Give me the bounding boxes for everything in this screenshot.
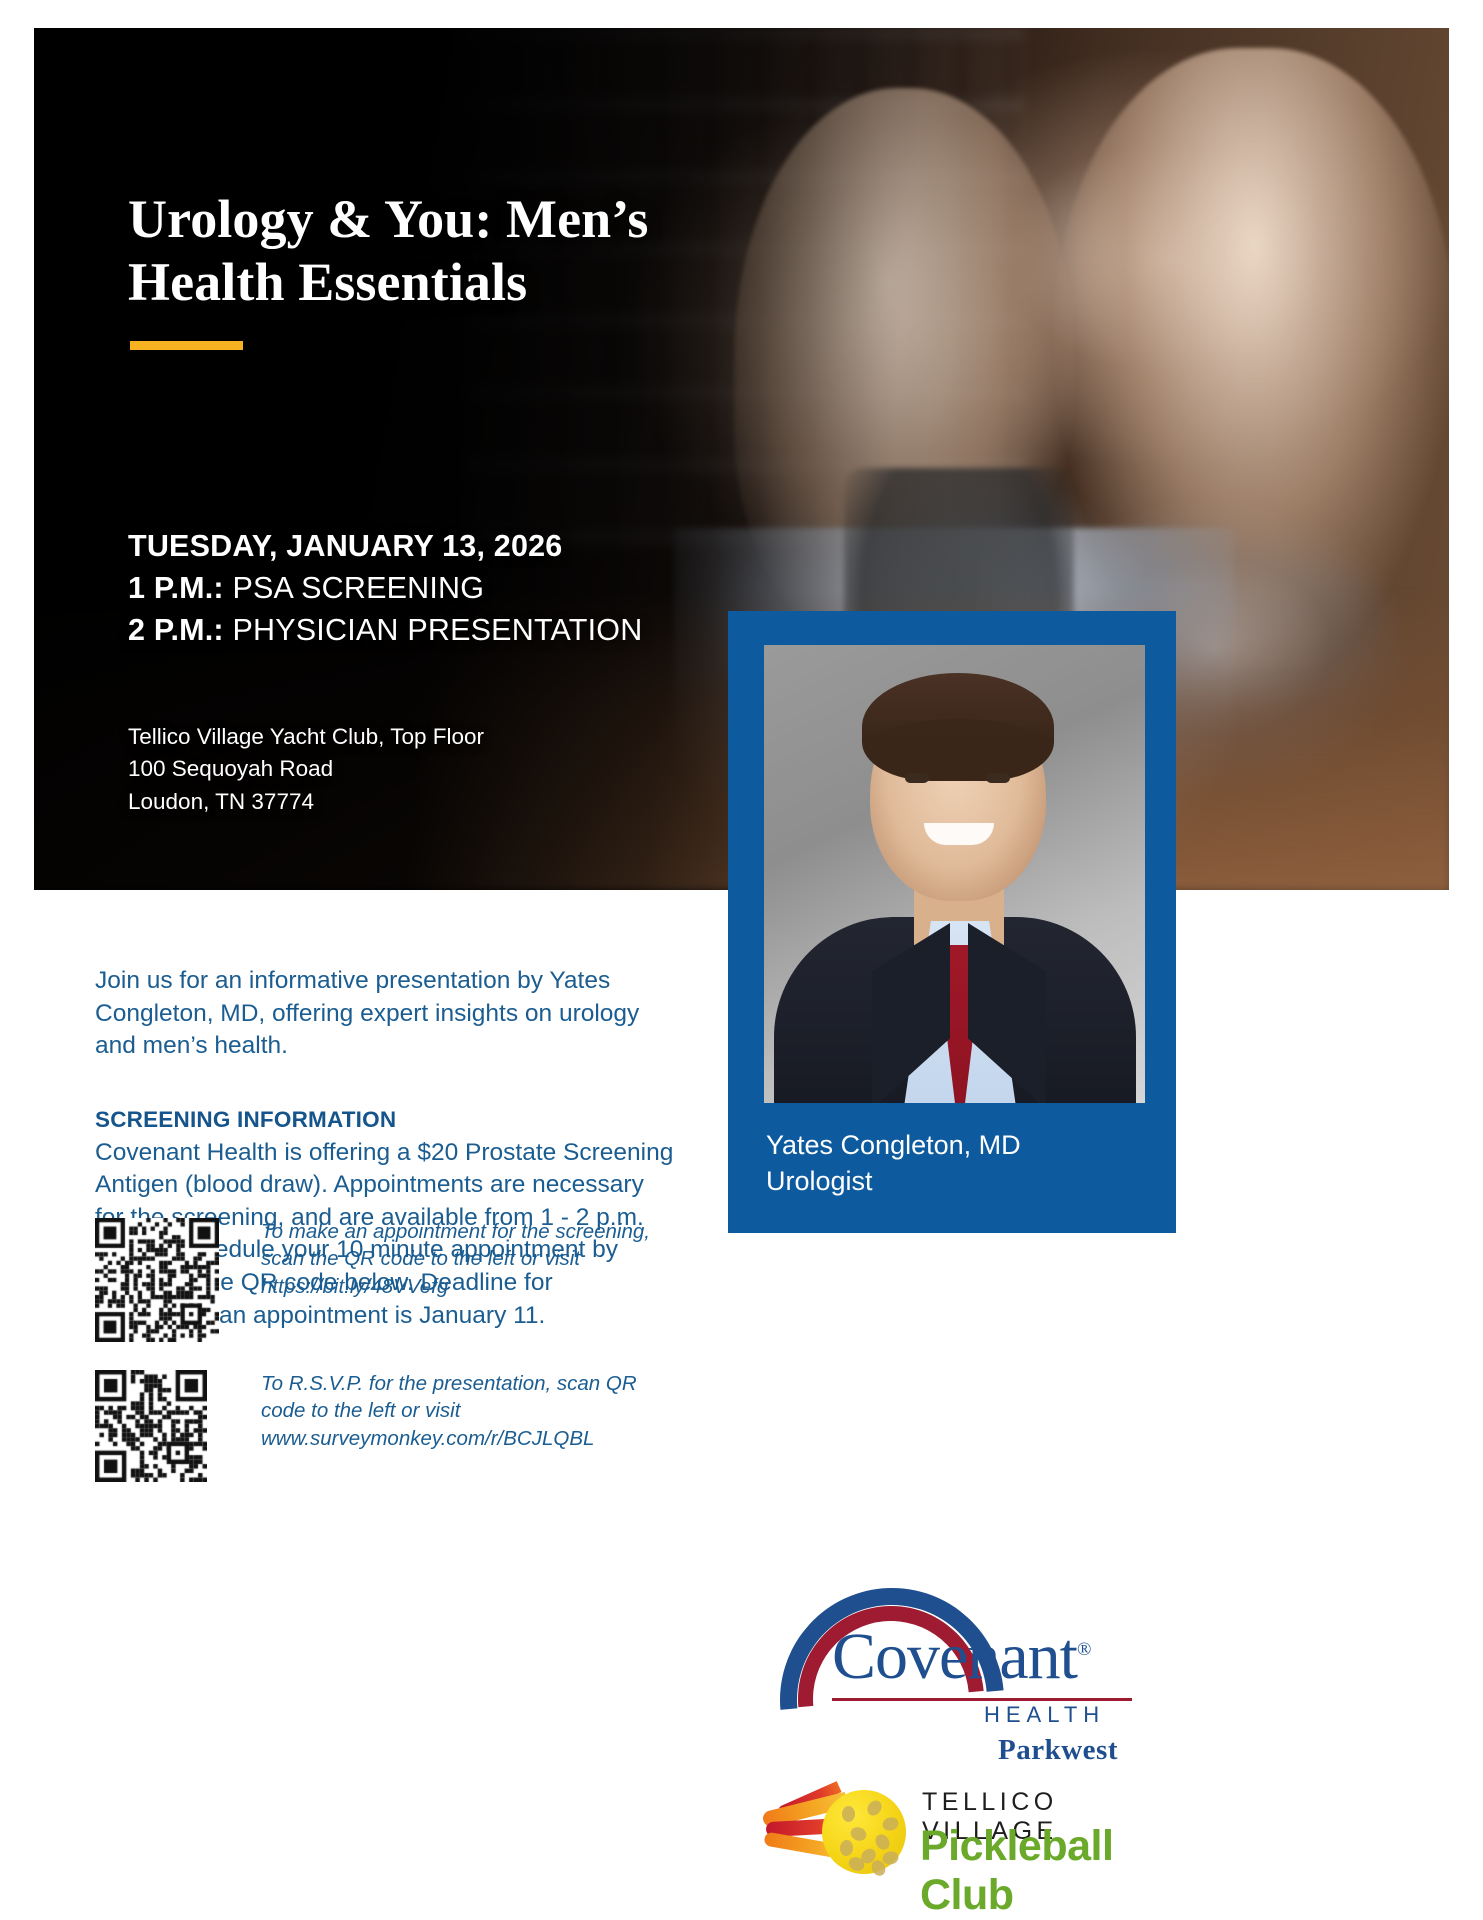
event-time-2: 2 P.M.: PHYSICIAN PRESENTATION	[128, 610, 828, 652]
appointment-caption-line-2: scan the QR code to the left or visit	[261, 1245, 661, 1272]
pickleball-hole	[881, 1850, 899, 1866]
event-time-1: 1 P.M.: PSA SCREENING	[128, 568, 828, 610]
flyer-page: Urology & You: Men’s Health Essentials T…	[0, 0, 1483, 1920]
rsvp-caption-line-1: To R.S.V.P. for the presentation, scan Q…	[261, 1370, 661, 1397]
eye-left	[905, 773, 929, 783]
time-1-value: PSA SCREENING	[232, 571, 484, 605]
rsvp-caption-line-2: code to the left or visit	[261, 1397, 661, 1424]
time-2-value: PHYSICIAN PRESENTATION	[232, 613, 642, 647]
covenant-divider	[832, 1698, 1132, 1701]
pickleball-hole	[881, 1816, 900, 1833]
event-address: Tellico Village Yacht Club, Top Floor 10…	[128, 721, 768, 818]
doctor-headshot	[764, 645, 1145, 1103]
doctor-caption: Yates Congleton, MD Urologist	[766, 1127, 1156, 1200]
pickleball-icon	[822, 1790, 906, 1874]
covenant-word-text: Covenant	[832, 1620, 1077, 1693]
covenant-parkwest-text: Parkwest	[998, 1734, 1118, 1767]
appointment-qr-block: To make an appointment for the screening…	[95, 1218, 661, 1342]
pickleball-hole	[842, 1806, 855, 1822]
pickleball-hole	[849, 1825, 869, 1843]
hair-shape	[862, 673, 1054, 781]
pickleball-line-2: Pickleball Club	[920, 1822, 1152, 1920]
eye-right	[986, 773, 1010, 783]
registered-mark: ®	[1077, 1639, 1090, 1660]
event-date: TUESDAY, JANUARY 13, 2026	[128, 526, 828, 568]
appointment-qr-caption: To make an appointment for the screening…	[261, 1218, 661, 1300]
city-state-zip: Loudon, TN 37774	[128, 786, 768, 818]
covenant-wordmark: Covenant®	[832, 1624, 1090, 1690]
street-address: 100 Sequoyah Road	[128, 753, 768, 785]
intro-paragraph: Join us for an informative presentation …	[95, 965, 675, 1063]
page-title: Urology & You: Men’s Health Essentials	[128, 188, 768, 313]
rsvp-qr-code[interactable]	[95, 1370, 207, 1482]
appointment-url[interactable]: https://bit.ly/48VVefg	[261, 1273, 661, 1300]
event-schedule: TUESDAY, JANUARY 13, 2026 1 P.M.: PSA SC…	[128, 526, 828, 651]
appointment-caption-line-1: To make an appointment for the screening…	[261, 1218, 661, 1245]
doctor-name: Yates Congleton, MD	[766, 1127, 1156, 1163]
rsvp-url[interactable]: www.surveymonkey.com/r/BCJLQBL	[261, 1425, 661, 1452]
doctor-title: Urologist	[766, 1163, 1156, 1199]
covenant-health-text: HEALTH	[984, 1702, 1105, 1728]
time-2-label: 2 P.M.:	[128, 613, 224, 647]
rsvp-qr-block: To R.S.V.P. for the presentation, scan Q…	[95, 1370, 661, 1482]
venue-name: Tellico Village Yacht Club, Top Floor	[128, 721, 768, 753]
tellico-village-pickleball-logo: TELLICO VILLAGE Pickleball Club	[762, 1776, 1152, 1896]
pickleball-hole	[839, 1839, 853, 1856]
pickleball-hole	[873, 1832, 893, 1852]
time-1-label: 1 P.M.:	[128, 571, 224, 605]
accent-rule	[130, 341, 243, 350]
pickleball-hole	[864, 1798, 884, 1819]
rsvp-qr-caption: To R.S.V.P. for the presentation, scan Q…	[261, 1370, 661, 1452]
appointment-qr-code[interactable]	[95, 1218, 219, 1342]
smile-shape	[924, 823, 994, 845]
covenant-health-logo: Covenant® HEALTH Parkwest	[770, 1588, 1140, 1748]
screening-heading: SCREENING INFORMATION	[95, 1107, 675, 1133]
doctor-panel: Yates Congleton, MD Urologist	[728, 611, 1176, 1233]
